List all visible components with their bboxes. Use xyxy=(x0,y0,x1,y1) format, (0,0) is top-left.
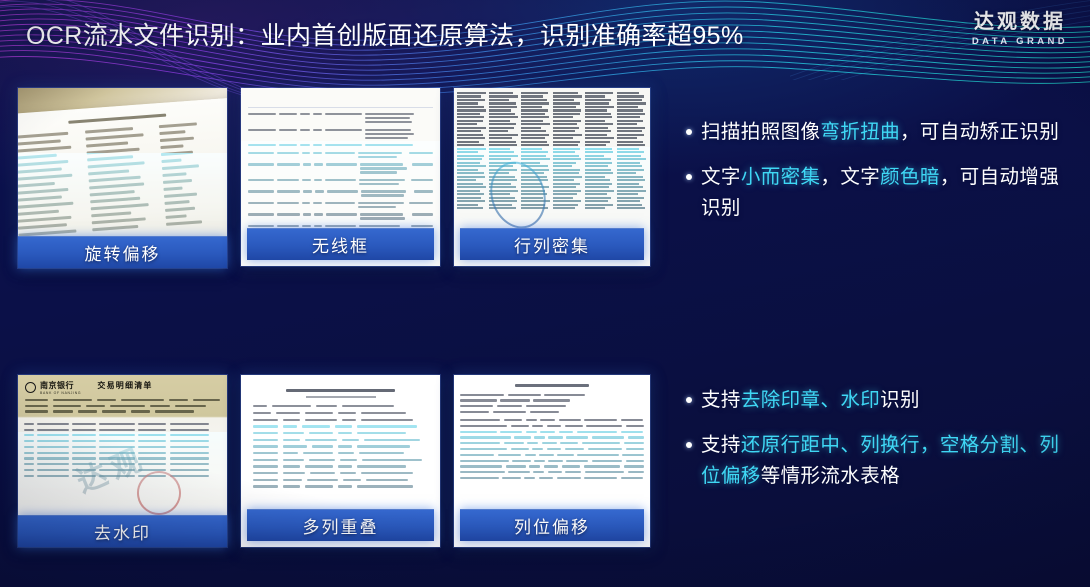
bank-name-en: BANK OF NANJING xyxy=(40,391,81,395)
plain-text: 支持 xyxy=(701,434,741,456)
bullet-text: 文字小而密集，文字颜色暗，可自动增强识别 xyxy=(701,162,1078,224)
plain-text: 等情形流水表格 xyxy=(761,465,900,487)
bullet-text: 扫描拍照图像弯折扭曲，可自动矫正识别 xyxy=(701,117,1059,148)
plain-text: 识别 xyxy=(880,389,920,411)
list-item: 支持去除印章、水印识别 xyxy=(686,385,1078,416)
highlight-text: 小而密集 xyxy=(741,166,821,188)
brand-logo: 达观数据 DATA GRAND xyxy=(972,12,1068,47)
thumbnail-row-top: 旋转偏移 xyxy=(18,88,650,268)
logo-name-en: DATA GRAND xyxy=(972,37,1068,47)
thumbnail-caption: 行列密集 xyxy=(460,228,644,260)
list-item: 支持还原行距中、列换行，空格分割、列位偏移等情形流水表格 xyxy=(686,430,1078,492)
highlight-text: 去除印章、水印 xyxy=(741,389,880,411)
plain-text: 扫描拍照图像 xyxy=(701,121,820,143)
plain-text: 支持 xyxy=(701,389,741,411)
thumbnail-caption: 旋转偏移 xyxy=(18,236,227,268)
thumbnail-card-watermark-removal[interactable]: 南京银行 BANK OF NANJING 交易明细清单 xyxy=(18,375,227,547)
page-title: OCR流水文件识别：业内首创版面还原算法，识别准确率超95% xyxy=(26,16,744,52)
list-item: 扫描拍照图像弯折扭曲，可自动矫正识别 xyxy=(686,117,1078,148)
thumbnail-card-borderless[interactable]: 无线框 xyxy=(241,88,440,266)
bullet-dot-icon xyxy=(686,129,692,135)
plain-text: ，文字 xyxy=(820,166,880,188)
feature-list-top: 扫描拍照图像弯折扭曲，可自动矫正识别 文字小而密集，文字颜色暗，可自动增强识别 xyxy=(686,117,1078,238)
bullet-dot-icon xyxy=(686,174,692,180)
feature-list-bottom: 支持去除印章、水印识别 支持还原行距中、列换行，空格分割、列位偏移等情形流水表格 xyxy=(686,385,1078,506)
logo-name-cn: 达观数据 xyxy=(972,12,1068,32)
slide-root: OCR流水文件识别：业内首创版面还原算法，识别准确率超95% 达观数据 DATA… xyxy=(0,0,1090,587)
thumbnail-card-dense-grid[interactable]: 行列密集 xyxy=(454,88,650,266)
thumbnail-card-column-offset[interactable]: 列位偏移 xyxy=(454,375,650,547)
bank-doc-title: 交易明细清单 xyxy=(97,380,152,391)
highlight-text: 颜色暗 xyxy=(880,166,940,188)
bank-seal-icon xyxy=(25,382,36,393)
slide-header: OCR流水文件识别：业内首创版面还原算法，识别准确率超95% 达观数据 DATA… xyxy=(0,0,1090,66)
bullet-dot-icon xyxy=(686,442,692,448)
plain-text: 文字 xyxy=(701,166,741,188)
thumbnail-card-multi-column[interactable]: 多列重叠 xyxy=(241,375,440,547)
thumbnail-card-rotation-offset[interactable]: 旋转偏移 xyxy=(18,88,227,268)
bullet-text: 支持去除印章、水印识别 xyxy=(701,385,920,416)
thumbnail-caption: 去水印 xyxy=(18,515,227,547)
list-item: 文字小而密集，文字颜色暗，可自动增强识别 xyxy=(686,162,1078,224)
thumbnail-row-bottom: 南京银行 BANK OF NANJING 交易明细清单 xyxy=(18,375,650,547)
highlight-text: 弯折扭曲 xyxy=(820,121,900,143)
thumbnail-caption: 列位偏移 xyxy=(460,509,644,541)
thumbnail-caption: 无线框 xyxy=(247,228,434,260)
thumbnail-caption: 多列重叠 xyxy=(247,509,434,541)
plain-text: ，可自动矫正识别 xyxy=(900,121,1059,143)
bank-name-cn: 南京银行 xyxy=(40,380,81,391)
bullet-dot-icon xyxy=(686,397,692,403)
bullet-text: 支持还原行距中、列换行，空格分割、列位偏移等情形流水表格 xyxy=(701,430,1078,492)
